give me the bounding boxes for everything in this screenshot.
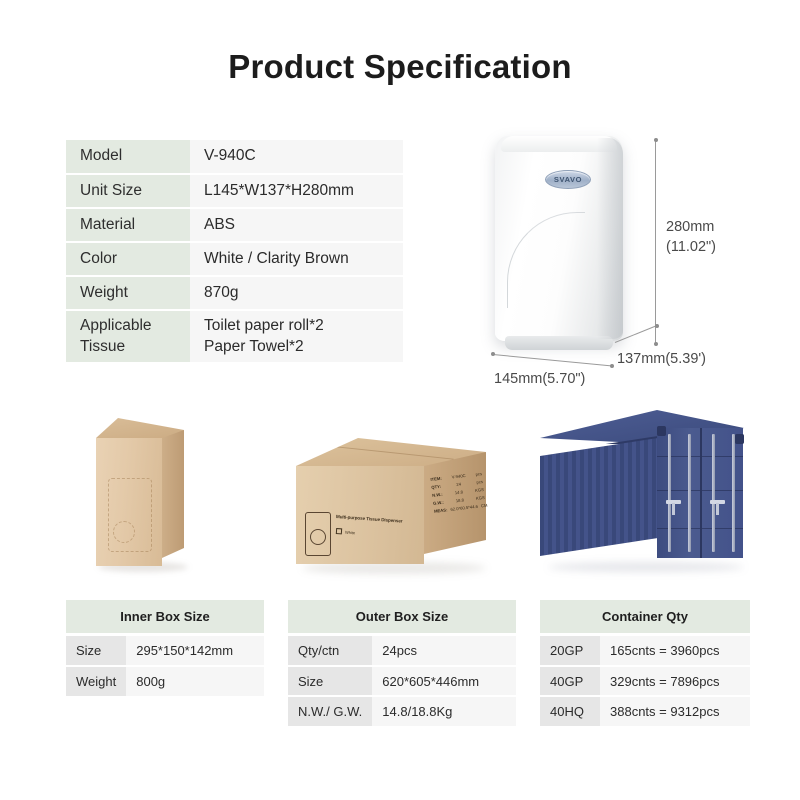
outer-box-front-face: Multi-purpose Tissue Dispenser White	[296, 466, 424, 564]
spec-key-color: Color	[66, 242, 190, 276]
container-shadow	[548, 562, 744, 572]
spec-value-unit-size: L145*W137*H280mm	[190, 174, 403, 208]
table-row: 40GP 329cnts = 7896pcs	[540, 666, 750, 696]
width-dimension-label: 145mm(5.70")	[494, 370, 585, 390]
table-row: Weight 800g	[66, 666, 264, 696]
depth-dimension-label: 137mm(5.39')	[617, 350, 706, 370]
table-row: Model V-940C	[66, 140, 403, 174]
tissue-line-2: Paper Towel*2	[204, 337, 389, 358]
depth-dim-dot-right	[655, 324, 659, 328]
container-corner-casting	[657, 426, 666, 436]
container-key-20gp: 20GP	[540, 636, 600, 666]
table-row: Applicable Tissue Toilet paper roll*2 Pa…	[66, 310, 403, 362]
container-value-40gp: 329cnts = 7896pcs	[600, 666, 750, 696]
carton-spec-unit: CM	[481, 502, 488, 511]
spec-key-weight: Weight	[66, 276, 190, 310]
container-door-seam	[700, 428, 702, 558]
outer-box-table: Outer Box Size Qty/ctn 24pcs Size 620*60…	[288, 600, 516, 726]
page-title: Product Specification	[0, 48, 800, 86]
spec-value-applicable-tissue: Toilet paper roll*2 Paper Towel*2	[190, 310, 403, 362]
height-inch: (11.02")	[666, 238, 716, 258]
spec-value-material: ABS	[190, 208, 403, 242]
inner-box-caption: Inner Box Size	[66, 600, 264, 636]
tissue-line-1: Toilet paper roll*2	[204, 316, 389, 337]
brand-label: SVAVO	[554, 175, 582, 184]
outer-box-value-weight: 14.8/18.8Kg	[372, 696, 516, 726]
container-door-handle	[710, 500, 725, 504]
carton-print-color-row: White	[336, 528, 356, 535]
container-qty-table: Container Qty 20GP 165cnts = 3960pcs 40G…	[540, 600, 750, 726]
inner-box-key-size: Size	[66, 636, 126, 666]
height-mm: 280mm	[666, 218, 716, 238]
inner-box-key-weight: Weight	[66, 666, 126, 696]
spec-value-weight: 870g	[190, 276, 403, 310]
height-dimension-line	[655, 140, 656, 344]
spec-table: Model V-940C Unit Size L145*W137*H280mm …	[66, 140, 403, 362]
container-side-face	[540, 438, 658, 556]
outer-box-caption: Outer Box Size	[288, 600, 516, 636]
table-row: N.W./ G.W. 14.8/18.8Kg	[288, 696, 516, 726]
container-locking-rod	[712, 434, 715, 552]
svavo-logo-badge: SVAVO	[545, 170, 591, 189]
tissue-dispenser-illustration: SVAVO	[495, 136, 623, 341]
spec-key-material: Material	[66, 208, 190, 242]
inner-box-front-face	[96, 438, 162, 566]
container-qty-caption: Container Qty	[540, 600, 750, 636]
packaging-illustrations-row: Multi-purpose Tissue Dispenser White ITE…	[0, 400, 800, 585]
outer-box-key-size: Size	[288, 666, 372, 696]
table-row: Unit Size L145*W137*H280mm	[66, 174, 403, 208]
table-row: Color White / Clarity Brown	[66, 242, 403, 276]
checkbox-icon	[336, 528, 342, 534]
container-key-40gp: 40GP	[540, 666, 600, 696]
outer-box-illustration: Multi-purpose Tissue Dispenser White ITE…	[296, 438, 492, 568]
dispenser-top-face	[501, 136, 617, 152]
dispenser-curve-detail	[507, 212, 585, 308]
spec-key-unit-size: Unit Size	[66, 174, 190, 208]
table-row: Size 620*605*446mm	[288, 666, 516, 696]
inner-box-side-face	[162, 430, 184, 558]
outer-box-tape-seam	[326, 445, 453, 459]
table-row: Size 295*150*142mm	[66, 636, 264, 666]
container-corner-casting	[735, 434, 744, 444]
container-key-40hq: 40HQ	[540, 696, 600, 726]
outer-box-value-size: 620*605*446mm	[372, 666, 516, 696]
carton-spec-key: MEAS:	[434, 506, 448, 515]
table-row: 40HQ 388cnts = 9312pcs	[540, 696, 750, 726]
inner-box-value-size: 295*150*142mm	[126, 636, 264, 666]
inner-box-table: Inner Box Size Size 295*150*142mm Weight…	[66, 600, 264, 696]
table-row: 20GP 165cnts = 3960pcs	[540, 636, 750, 666]
carton-print-color-label: White	[345, 529, 356, 535]
table-row: Material ABS	[66, 208, 403, 242]
spec-key-model: Model	[66, 140, 190, 174]
outer-box-key-qty: Qty/ctn	[288, 636, 372, 666]
carton-print-spec-block: ITEM: V-940C pcs QTY: 24 pcs N.W.: 14.8 …	[430, 470, 486, 516]
container-locking-rod	[688, 434, 691, 552]
dispenser-bottom-face	[505, 336, 613, 350]
inner-box-value-weight: 800g	[126, 666, 264, 696]
outer-box-key-weight: N.W./ G.W.	[288, 696, 372, 726]
outer-box-value-qty: 24pcs	[372, 636, 516, 666]
width-dim-dot-left	[491, 352, 495, 356]
width-dim-dot-right	[610, 364, 614, 368]
carton-product-icon	[305, 512, 331, 556]
inner-box-printed-outline	[108, 478, 152, 552]
height-dimension-label: 280mm (11.02")	[666, 218, 716, 257]
spec-key-applicable-tissue: Applicable Tissue	[66, 310, 190, 362]
container-value-40hq: 388cnts = 9312pcs	[600, 696, 750, 726]
inner-box-illustration	[96, 418, 188, 568]
table-row: Qty/ctn 24pcs	[288, 636, 516, 666]
container-door-handle	[666, 500, 681, 504]
spec-value-color: White / Clarity Brown	[190, 242, 403, 276]
spec-value-model: V-940C	[190, 140, 403, 174]
height-dim-dot-top	[654, 138, 658, 142]
width-dimension-line	[493, 354, 613, 366]
container-locking-rod	[668, 434, 671, 552]
container-value-20gp: 165cnts = 3960pcs	[600, 636, 750, 666]
carton-print-title: Multi-purpose Tissue Dispenser	[336, 514, 403, 524]
height-dim-dot-bottom	[654, 342, 658, 346]
table-row: Weight 870g	[66, 276, 403, 310]
container-locking-rod	[732, 434, 735, 552]
shipping-container-illustration	[540, 410, 760, 580]
product-image-area: SVAVO 280mm (11.02") 145mm(5.70") 137mm(…	[460, 118, 760, 383]
